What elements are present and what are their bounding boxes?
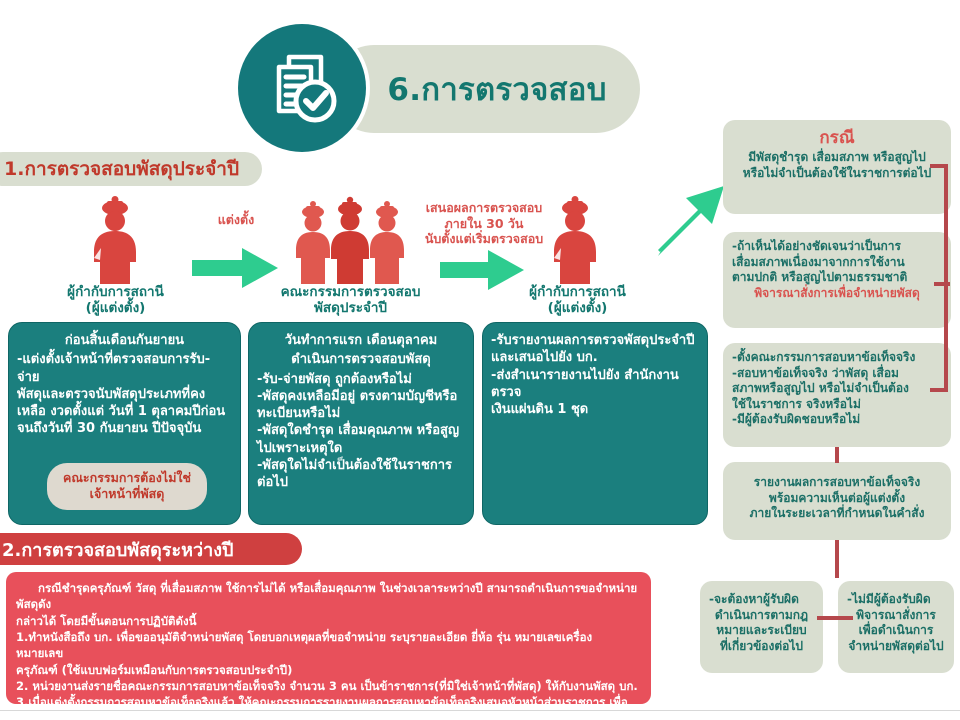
single-officer-icon	[80, 196, 150, 290]
right-box-not-liable: -ไม่มีผู้ต้องรับผิด พิจารณาสั่งการ เพื่อ…	[838, 581, 954, 673]
connector-outcomes-split	[817, 616, 853, 620]
connector-report-to-outcomes	[835, 540, 839, 578]
right-arrow-icon	[190, 245, 280, 295]
section2-heading: 2.การตรวจสอบพัสดุระหว่างปี	[2, 533, 312, 565]
teal-box-3: -รับรายงานผลการตรวจพัสดุประจำปี และเสนอไ…	[482, 322, 708, 525]
right-box-case: กรณี มีพัสดุชำรุด เสื่อมสภาพ หรือสูญไป ห…	[723, 120, 951, 214]
connector-mid-stub	[934, 282, 950, 286]
arrow1-label: แต่งตั้ง	[196, 212, 276, 228]
teal-box-2: วันทำการแรก เดือนตุลาคม ดำเนินการตรวจสอบ…	[248, 322, 474, 525]
person2-label: คณะกรรมการตรวจสอบ พัสดุประจำปี	[268, 285, 433, 316]
documents-check-icon	[238, 24, 366, 152]
right-box-liable: -จะต้องหาผู้รับผิด ดำเนินการตามกฎ หมายแล…	[700, 581, 823, 673]
connector-committee-to-report	[835, 447, 839, 463]
connector-vertical-right	[944, 164, 948, 392]
section2-content-box: กรณีชำรุดครุภัณฑ์ วัสดุ ที่เสื่อมสภาพ ใช…	[6, 572, 651, 704]
diagonal-arrow-up-right-icon	[650, 178, 728, 264]
person1-label: ผู้กำกับการสถานี (ผู้แต่งตั้ง)	[28, 285, 203, 316]
right-box-report: รายงานผลการสอบหาข้อเท็จจริง พร้อมความเห็…	[723, 462, 951, 540]
person3-label: ผู้กำกับการสถานี (ผู้แต่งตั้ง)	[490, 285, 665, 316]
teal-box-1: ก่อนสิ้นเดือนกันยายน -แต่งตั้งเจ้าหน้าที…	[8, 322, 241, 525]
committee-note-badge: คณะกรรมการต้องไม่ใช่ เจ้าหน้าที่พัสดุ	[47, 463, 207, 510]
connector-bottom-stub	[930, 388, 948, 392]
bottom-divider	[0, 710, 960, 720]
section1-heading: 1.การตรวจสอบพัสดุประจำปี	[4, 152, 272, 186]
right-box-fact-finding-committee: -ตั้งคณะกรรมการสอบหาข้อเท็จจริง -สอบหาข้…	[723, 343, 951, 447]
page-title: 6.การตรวจสอบ	[330, 45, 640, 133]
three-officers-icon	[285, 196, 415, 290]
infographic-page: 6.การตรวจสอบ 1.การตรวจสอบพัสดุประจำปี	[0, 0, 960, 720]
connector-top-stub	[930, 164, 948, 168]
single-officer-icon	[540, 196, 610, 290]
right-box-natural-deterioration: -ถ้าเห็นได้อย่างชัดเจนว่าเป็นการ เสื่อมส…	[723, 232, 951, 328]
